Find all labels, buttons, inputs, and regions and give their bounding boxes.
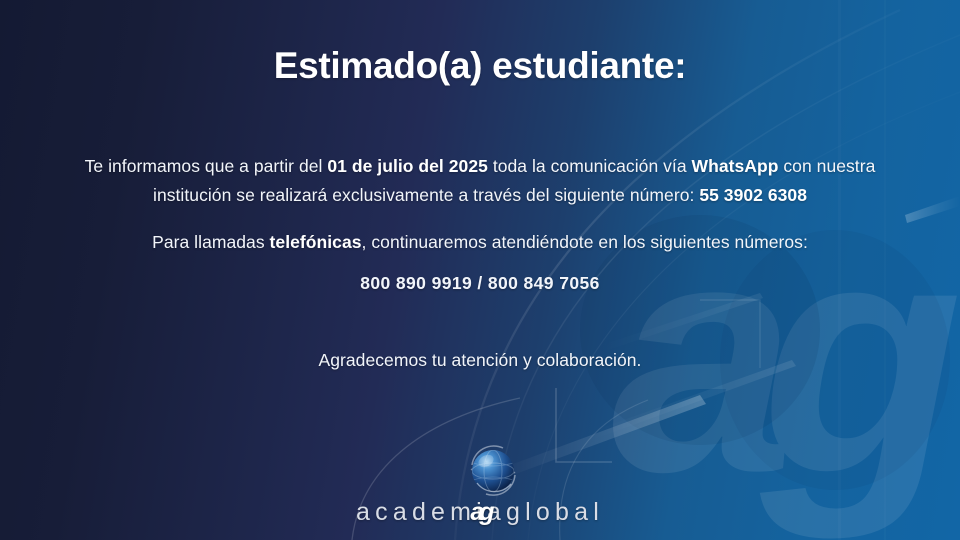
logo-word-global: global xyxy=(506,498,604,526)
notice-text-1: Te informamos que a partir del xyxy=(85,156,328,176)
calls-text-2: , continuaremos atendiéndote en los sigu… xyxy=(362,232,808,252)
whatsapp-number: 55 3902 6308 xyxy=(699,185,807,205)
presentation-slide: ag xyxy=(0,0,960,540)
notice-text-2: toda la comunicación vía xyxy=(488,156,692,176)
academia-global-logo: academiaglobal ag xyxy=(0,437,960,533)
page-title: Estimado(a) estudiante: xyxy=(0,45,960,88)
calls-text-1: Para llamadas xyxy=(152,232,269,252)
calls-bold: telefónicas xyxy=(270,232,362,252)
notice-paragraph: Te informamos que a partir del 01 de jul… xyxy=(0,152,960,210)
calls-paragraph: Para llamadas telefónicas, continuaremos… xyxy=(0,228,960,257)
logo-monogram-ag: ag xyxy=(470,495,489,529)
notice-app: WhatsApp xyxy=(692,156,779,176)
notice-date: 01 de julio del 2025 xyxy=(327,156,488,176)
slide-content: Estimado(a) estudiante: Te informamos qu… xyxy=(0,0,960,540)
phone-numbers: 800 890 9919 / 800 849 7056 xyxy=(0,269,960,298)
closing-line: Agradecemos tu atención y colaboración. xyxy=(0,346,960,375)
